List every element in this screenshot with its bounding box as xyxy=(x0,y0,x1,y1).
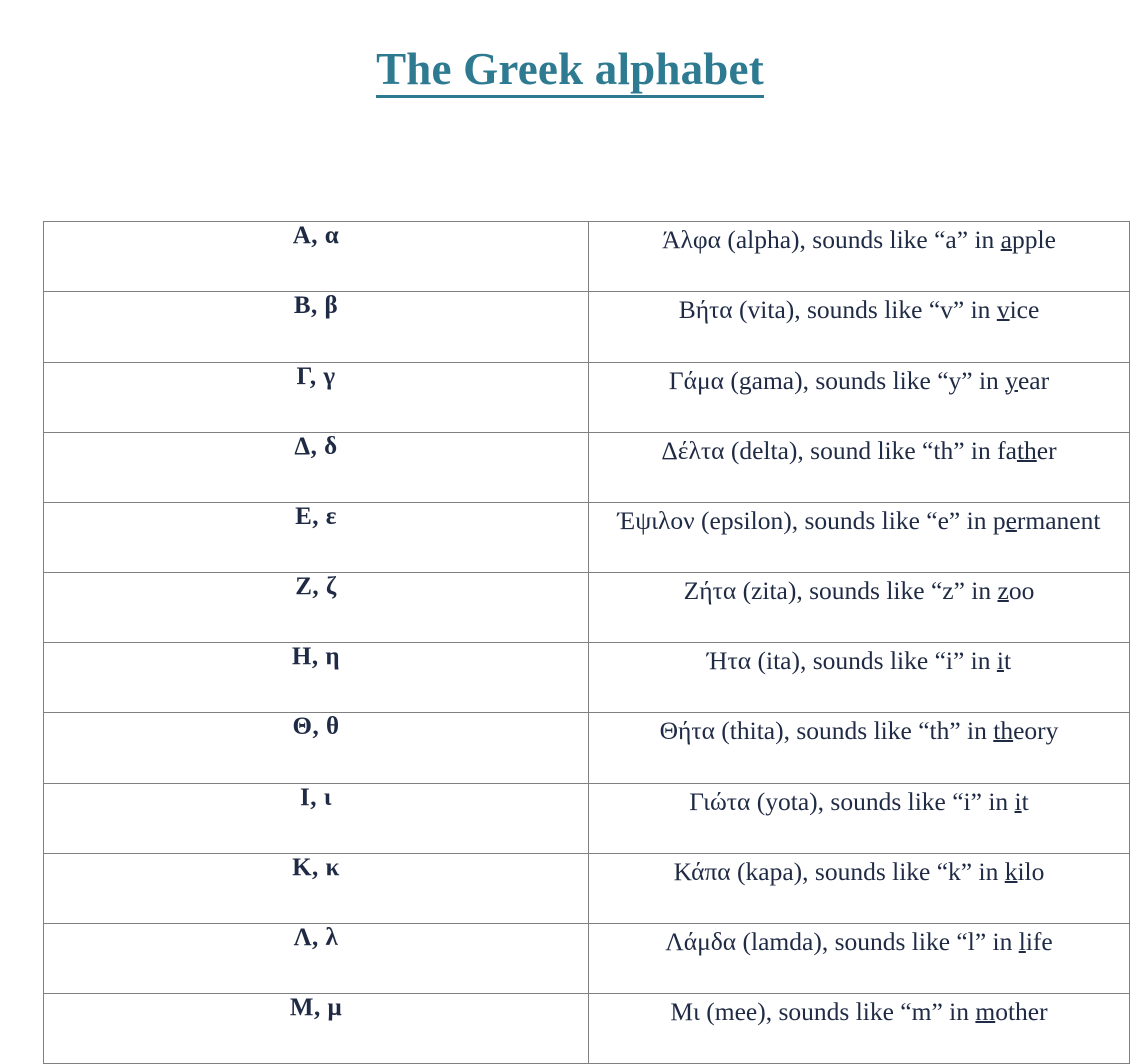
description-prefix: Θήτα (thita), sounds like “th” in xyxy=(660,716,994,745)
letter-cell: Δ, δ xyxy=(44,432,589,502)
description-cell: Δέλτα (delta), sound like “th” in father xyxy=(589,432,1130,502)
example-underlined-letters: y xyxy=(1005,366,1018,395)
table-row: Β, βΒήτα (vita), sounds like “v” in vice xyxy=(44,292,1130,362)
description-cell: Έψιλον (epsilon), sounds like “e” in per… xyxy=(589,502,1130,572)
letter-cell: Β, β xyxy=(44,292,589,362)
example-remainder: pple xyxy=(1012,225,1056,254)
example-remainder: eory xyxy=(1013,716,1058,745)
greek-alphabet-table: Α, αΆλφα (alpha), sounds like “a” in app… xyxy=(43,221,1130,1064)
description-cell: Άλφα (alpha), sounds like “a” in apple xyxy=(589,222,1130,292)
example-underlined-letters: i xyxy=(1015,787,1022,816)
description-prefix: Μι (mee), sounds like “m” in xyxy=(670,997,975,1026)
table-row: Θ, θΘήτα (thita), sounds like “th” in th… xyxy=(44,713,1130,783)
description-prefix: Λάμδα (lamda), sounds like “l” in xyxy=(665,927,1018,956)
description-cell: Γάμα (gama), sounds like “y” in year xyxy=(589,362,1130,432)
table-row: Λ, λΛάμδα (lamda), sounds like “l” in li… xyxy=(44,924,1130,994)
table-row: Ζ, ζΖήτα (zita), sounds like “z” in zoo xyxy=(44,573,1130,643)
example-underlined-letters: i xyxy=(997,646,1004,675)
example-underlined-letters: z xyxy=(997,576,1008,605)
table-row: Γ, γΓάμα (gama), sounds like “y” in year xyxy=(44,362,1130,432)
description-cell: Βήτα (vita), sounds like “v” in vice xyxy=(589,292,1130,362)
example-underlined-letters: k xyxy=(1005,857,1018,886)
example-remainder: er xyxy=(1037,436,1057,465)
description-prefix: Γάμα (gama), sounds like “y” in xyxy=(669,366,1005,395)
letter-cell: Θ, θ xyxy=(44,713,589,783)
description-cell: Μι (mee), sounds like “m” in mother xyxy=(589,994,1130,1064)
letter-cell: Γ, γ xyxy=(44,362,589,432)
example-remainder: ife xyxy=(1026,927,1053,956)
letter-cell: Μ, μ xyxy=(44,994,589,1064)
example-underlined-letters: a xyxy=(1001,225,1012,254)
description-prefix: Κάπα (kapa), sounds like “k” in xyxy=(674,857,1005,886)
table-row: Μ, μΜι (mee), sounds like “m” in mother xyxy=(44,994,1130,1064)
description-cell: Ζήτα (zita), sounds like “z” in zoo xyxy=(589,573,1130,643)
document-page: The Greek alphabet Α, αΆλφα (alpha), sou… xyxy=(0,30,1140,1046)
table-row: Ε, εΈψιλον (epsilon), sounds like “e” in… xyxy=(44,502,1130,572)
table-body: Α, αΆλφα (alpha), sounds like “a” in app… xyxy=(44,222,1130,1064)
example-underlined-letters: e xyxy=(1006,506,1017,535)
example-remainder: ice xyxy=(1010,295,1040,324)
letter-cell: Ι, ι xyxy=(44,783,589,853)
letter-cell: Κ, κ xyxy=(44,853,589,923)
table-row: Κ, κΚάπα (kapa), sounds like “k” in kilo xyxy=(44,853,1130,923)
example-underlined-letters: m xyxy=(975,997,995,1026)
example-remainder: ilo xyxy=(1017,857,1044,886)
letter-cell: Η, η xyxy=(44,643,589,713)
example-underlined-letters: th xyxy=(993,716,1013,745)
letter-cell: Ζ, ζ xyxy=(44,573,589,643)
description-prefix: Ζήτα (zita), sounds like “z” in xyxy=(684,576,998,605)
greek-alphabet-table-wrapper: Α, αΆλφα (alpha), sounds like “a” in app… xyxy=(43,221,1128,1064)
page-title-text: The Greek alphabet xyxy=(376,46,764,98)
letter-cell: Α, α xyxy=(44,222,589,292)
page-title: The Greek alphabet xyxy=(0,30,1140,98)
example-underlined-letters: v xyxy=(997,295,1010,324)
letter-cell: Ε, ε xyxy=(44,502,589,572)
letter-cell: Λ, λ xyxy=(44,924,589,994)
table-row: Α, αΆλφα (alpha), sounds like “a” in app… xyxy=(44,222,1130,292)
example-remainder: oo xyxy=(1009,576,1035,605)
description-prefix: Έψιλον (epsilon), sounds like “e” in p xyxy=(618,506,1006,535)
description-cell: Γιώτα (yota), sounds like “i” in it xyxy=(589,783,1130,853)
table-row: Ι, ιΓιώτα (yota), sounds like “i” in it xyxy=(44,783,1130,853)
description-prefix: Δέλτα (delta), sound like “th” in fa xyxy=(661,436,1017,465)
description-cell: Κάπα (kapa), sounds like “k” in kilo xyxy=(589,853,1130,923)
example-remainder: other xyxy=(995,997,1047,1026)
description-prefix: Ήτα (ita), sounds like “i” in xyxy=(707,646,997,675)
example-underlined-letters: th xyxy=(1017,436,1037,465)
example-remainder: t xyxy=(1022,787,1029,816)
example-remainder: rmanent xyxy=(1017,506,1101,535)
description-cell: Λάμδα (lamda), sounds like “l” in life xyxy=(589,924,1130,994)
example-remainder: t xyxy=(1004,646,1011,675)
description-prefix: Γιώτα (yota), sounds like “i” in xyxy=(689,787,1014,816)
description-prefix: Άλφα (alpha), sounds like “a” in xyxy=(662,225,1001,254)
example-underlined-letters: l xyxy=(1019,927,1026,956)
description-cell: Ήτα (ita), sounds like “i” in it xyxy=(589,643,1130,713)
table-row: Δ, δΔέλτα (delta), sound like “th” in fa… xyxy=(44,432,1130,502)
table-row: Η, ηΉτα (ita), sounds like “i” in it xyxy=(44,643,1130,713)
description-prefix: Βήτα (vita), sounds like “v” in xyxy=(679,295,997,324)
description-cell: Θήτα (thita), sounds like “th” in theory xyxy=(589,713,1130,783)
example-remainder: ear xyxy=(1018,366,1049,395)
